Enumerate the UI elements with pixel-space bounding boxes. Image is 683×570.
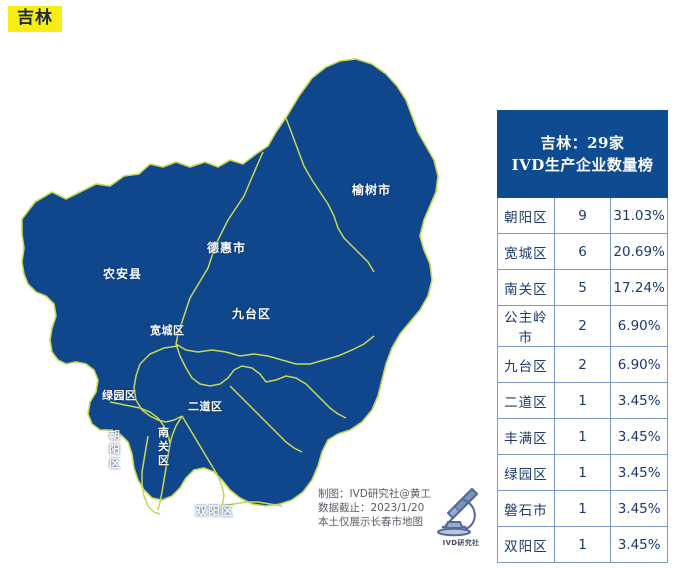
credit-data-cutoff: 数据截止：2023/1/20 <box>318 501 431 515</box>
rank-table-body: 朝阳区931.03%宽城区620.69%南关区517.24%公主岭市26.90%… <box>498 198 668 563</box>
cell-percent: 3.45% <box>611 419 668 455</box>
cell-district: 磐石市 <box>498 491 555 527</box>
microscope-icon <box>432 481 490 539</box>
cell-count: 1 <box>554 419 611 455</box>
rank-table-header-row: 吉林：29家 IVD生产企业数量榜 <box>498 111 668 198</box>
cell-count: 5 <box>554 270 611 306</box>
cell-percent: 6.90% <box>611 347 668 383</box>
page-title-badge: 吉林 <box>8 6 62 32</box>
rank-table: 吉林：29家 IVD生产企业数量榜 朝阳区931.03%宽城区620.69%南关… <box>497 110 668 563</box>
table-row: 九台区26.90% <box>498 347 668 383</box>
cell-count: 1 <box>554 383 611 419</box>
cell-percent: 3.45% <box>611 455 668 491</box>
table-row: 南关区517.24% <box>498 270 668 306</box>
cell-district: 南关区 <box>498 270 555 306</box>
page-title: 吉林 <box>8 6 62 32</box>
rank-table-title-line1: 吉林：29家 <box>498 132 667 154</box>
rank-table-title-line2: IVD生产企业数量榜 <box>498 154 667 176</box>
cell-count: 1 <box>554 455 611 491</box>
region-outline <box>22 59 438 506</box>
table-row: 磐石市13.45% <box>498 491 668 527</box>
cell-percent: 3.45% <box>611 527 668 563</box>
cell-count: 6 <box>554 234 611 270</box>
cell-district: 公主岭市 <box>498 306 555 347</box>
cell-percent: 17.24% <box>611 270 668 306</box>
cell-count: 1 <box>554 527 611 563</box>
credit-scope-note: 本土仅展示长春市地图 <box>318 515 431 529</box>
cell-percent: 3.45% <box>611 383 668 419</box>
table-row: 公主岭市26.90% <box>498 306 668 347</box>
table-row: 宽城区620.69% <box>498 234 668 270</box>
cell-district: 九台区 <box>498 347 555 383</box>
table-row: 绿园区13.45% <box>498 455 668 491</box>
cell-district: 宽城区 <box>498 234 555 270</box>
cell-count: 2 <box>554 306 611 347</box>
map-regions <box>22 59 438 514</box>
cell-percent: 31.03% <box>611 198 668 234</box>
logo-text: IVD研究社 <box>432 538 490 548</box>
cell-district: 朝阳区 <box>498 198 555 234</box>
cell-count: 1 <box>554 491 611 527</box>
cell-percent: 6.90% <box>611 306 668 347</box>
table-row: 朝阳区931.03% <box>498 198 668 234</box>
credits-block: 制图：IVD研究社@黄工 数据截止：2023/1/20 本土仅展示长春市地图 <box>318 487 431 529</box>
table-row: 双阳区13.45% <box>498 527 668 563</box>
rank-table-head: 吉林：29家 IVD生产企业数量榜 <box>498 111 668 198</box>
cell-percent: 3.45% <box>611 491 668 527</box>
credit-author: 制图：IVD研究社@黄工 <box>318 487 431 501</box>
ivd-logo: IVD研究社 <box>432 481 490 551</box>
cell-district: 二道区 <box>498 383 555 419</box>
table-row: 二道区13.45% <box>498 383 668 419</box>
rank-table-title: 吉林：29家 IVD生产企业数量榜 <box>498 111 668 198</box>
table-row: 丰满区13.45% <box>498 419 668 455</box>
cell-count: 2 <box>554 347 611 383</box>
cell-district: 绿园区 <box>498 455 555 491</box>
page-root: 吉林 <box>0 0 683 570</box>
cell-district: 双阳区 <box>498 527 555 563</box>
cell-district: 丰满区 <box>498 419 555 455</box>
cell-count: 9 <box>554 198 611 234</box>
cell-percent: 20.69% <box>611 234 668 270</box>
